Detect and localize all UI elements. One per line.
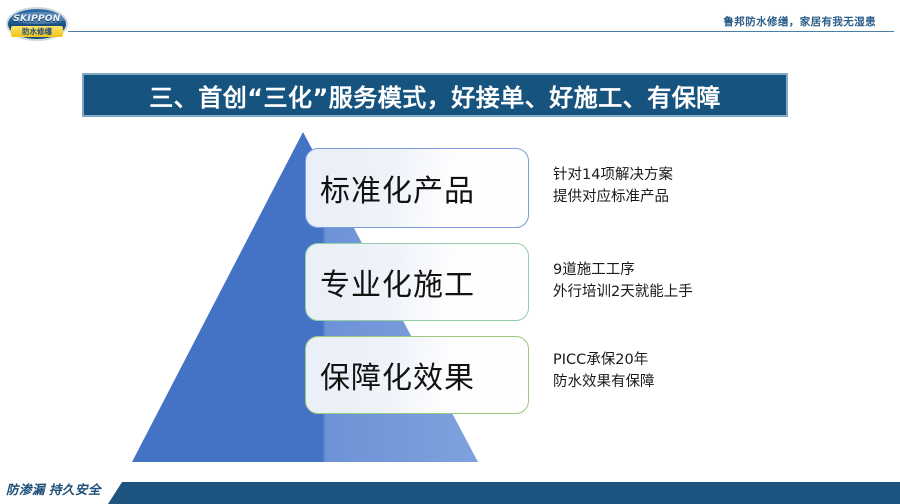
box-label: 专业化施工: [306, 260, 475, 304]
page-footer: 防渗漏 持久安全: [0, 470, 900, 504]
footer-slogan: 防渗漏 持久安全: [6, 479, 101, 498]
box-label: 保障化效果: [306, 353, 475, 397]
slide-title-banner: 三、首创“三化”服务模式，好接单、好施工、有保障: [82, 73, 788, 117]
box-label: 标准化产品: [306, 166, 475, 210]
description-standardized-product: 针对14项解决方案 提供对应标准产品: [553, 165, 673, 209]
footer-accent-bar: [108, 482, 900, 504]
company-logo: SKIPPON 防水修缮: [6, 7, 68, 41]
description-guaranteed-effect: PICC承保20年 防水效果有保障: [553, 350, 655, 394]
description-line: 防水效果有保障: [553, 372, 655, 394]
header-divider-line: [68, 31, 894, 32]
description-line: 提供对应标准产品: [553, 187, 673, 209]
logo-band-label: 防水修缮: [11, 26, 63, 37]
page-title: 三、首创“三化”服务模式，好接单、好施工、有保障: [149, 78, 721, 113]
description-professional-construction: 9道施工工序 外行培训2天就能上手: [553, 260, 693, 304]
pyramid-box-guaranteed-effect[interactable]: 保障化效果: [305, 336, 529, 414]
page-header: SKIPPON 防水修缮 鲁邦防水修缮，家居有我无湿患: [0, 0, 900, 46]
description-line: PICC承保20年: [553, 350, 655, 372]
pyramid-box-standardized-product[interactable]: 标准化产品: [305, 148, 529, 228]
logo-brand-text: SKIPPON: [6, 14, 68, 24]
description-line: 针对14项解决方案: [553, 165, 673, 187]
description-line: 外行培训2天就能上手: [553, 282, 693, 304]
pyramid-box-professional-construction[interactable]: 专业化施工: [305, 243, 529, 321]
description-line: 9道施工工序: [553, 260, 693, 282]
header-tagline: 鲁邦防水修缮，家居有我无湿患: [723, 14, 876, 29]
